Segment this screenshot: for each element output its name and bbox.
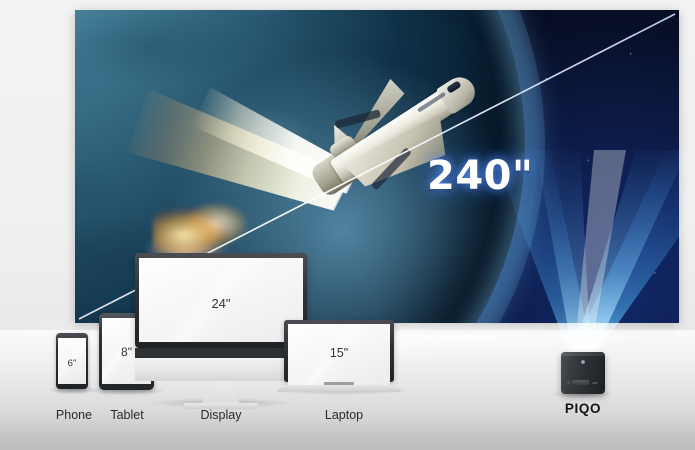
display-screen: 24" xyxy=(139,258,303,342)
projector-port xyxy=(572,380,589,385)
phone-size-label: 6" xyxy=(58,358,86,369)
label-laptop: Laptop xyxy=(312,408,376,422)
display-base-panel xyxy=(135,358,307,381)
laptop-screen: 15" xyxy=(288,324,390,385)
comparison-scene: 240" 6" xyxy=(0,0,695,450)
label-tablet: Tablet xyxy=(103,408,151,422)
laptop-keyboard-deck xyxy=(276,385,402,392)
laptop-hinge xyxy=(324,382,354,385)
projector-indicator-dot xyxy=(567,381,570,384)
display-chin xyxy=(135,348,307,358)
projector-brand-label: PIQO xyxy=(540,401,626,416)
label-display: Display xyxy=(189,408,253,422)
projector-lens-icon xyxy=(581,360,585,364)
device-projector[interactable] xyxy=(561,352,605,394)
device-display[interactable]: 24" xyxy=(135,253,307,348)
phone-screen: 6" xyxy=(58,338,86,385)
label-phone: Phone xyxy=(51,408,97,422)
device-laptop[interactable]: 15" xyxy=(284,320,394,390)
display-size-label: 24" xyxy=(139,296,303,311)
projection-size-label: 240" xyxy=(427,153,533,199)
projector-button[interactable] xyxy=(592,382,598,384)
projector-top-edge xyxy=(561,352,605,356)
device-phone[interactable]: 6" xyxy=(56,333,88,389)
laptop-size-label: 15" xyxy=(288,346,390,360)
